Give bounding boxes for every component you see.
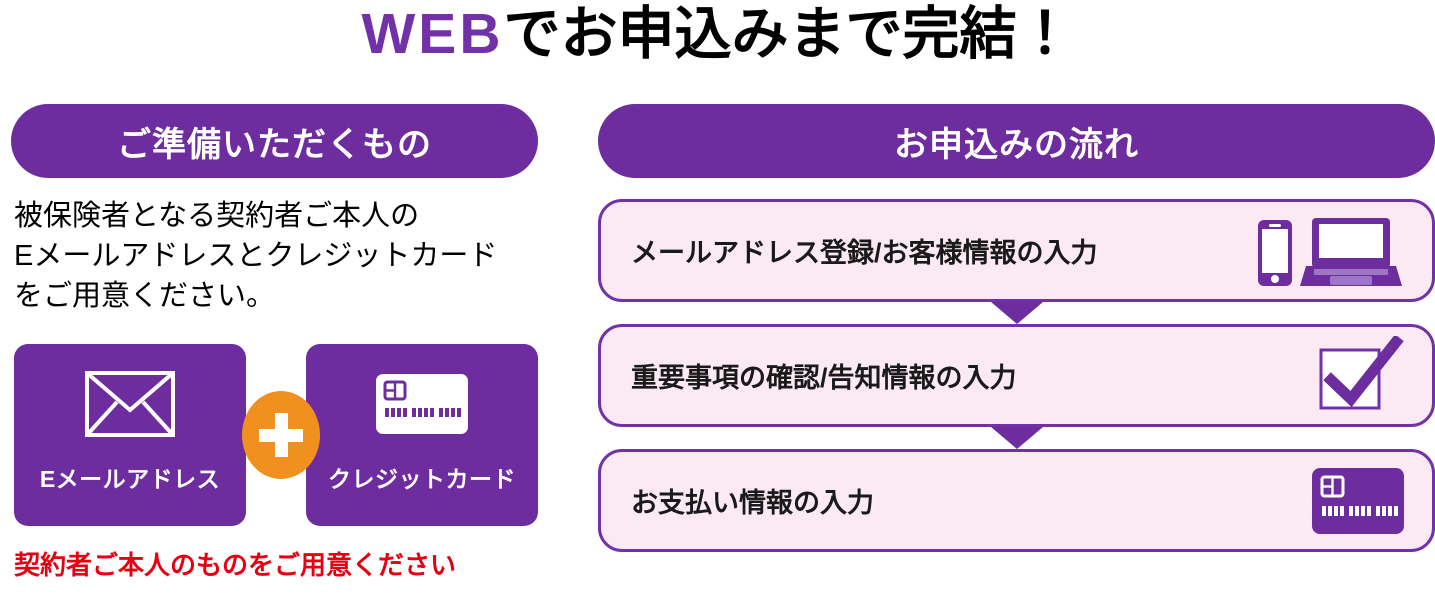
envelope-icon [84, 370, 176, 438]
envelope-icon-wrap [84, 344, 176, 464]
preparation-description-line-3: をご用意ください。 [14, 276, 540, 316]
preparation-description-line-1: 被保険者となる契約者ご本人の [14, 196, 540, 236]
application-flow-column: お申込みの流れ メールアドレス登録/お客様情報の入力 [598, 104, 1435, 603]
web-application-infographic: WEBでお申込みまで完結！ ご準備いただくもの 被保険者となる契約者ご本人の E… [0, 0, 1435, 603]
preparation-item-credit-card-label: クレジットカード [328, 464, 516, 494]
phone-laptop-icon-wrap [1256, 202, 1404, 299]
flow-heading-pill: お申込みの流れ [598, 104, 1435, 178]
preparation-item-credit-card: クレジットカード [306, 344, 538, 526]
preparation-description: 被保険者となる契約者ご本人の Eメールアドレスとクレジットカード をご用意くださ… [14, 196, 540, 316]
flow-step-3[interactable]: お支払い情報の入力 [598, 449, 1435, 552]
arrow-down-icon-1 [598, 302, 1435, 324]
checkbox-checked-icon-wrap [1318, 327, 1404, 424]
flow-step-2-label: 重要事項の確認/告知情報の入力 [631, 356, 1318, 395]
arrow-down-icon-triangle [991, 302, 1043, 324]
credit-card-icon [376, 374, 468, 434]
arrow-down-icon-triangle [991, 427, 1043, 449]
flow-heading-label: お申込みの流れ [894, 117, 1139, 166]
preparation-column: ご準備いただくもの 被保険者となる契約者ご本人の Eメールアドレスとクレジットカ… [0, 104, 540, 603]
plus-icon-bar-vertical [275, 413, 288, 457]
flow-step-1-label: メールアドレス登録/お客様情報の入力 [631, 231, 1256, 270]
preparation-heading-label: ご準備いただくもの [117, 117, 432, 166]
page-title: WEBでお申込みまで完結！ [0, 0, 1435, 70]
preparation-heading-pill: ご準備いただくもの [11, 104, 538, 178]
checkbox-checked-icon [1318, 336, 1404, 416]
page-title-highlight: WEB [362, 2, 504, 66]
preparation-items-row: Eメールアドレス [14, 344, 538, 526]
phone-laptop-icon [1256, 214, 1404, 288]
flow-step-1[interactable]: メールアドレス登録/お客様情報の入力 [598, 199, 1435, 302]
preparation-item-email-label: Eメールアドレス [40, 464, 220, 494]
flow-step-2[interactable]: 重要事項の確認/告知情報の入力 [598, 324, 1435, 427]
credit-card-icon [1312, 468, 1404, 534]
preparation-description-line-2: Eメールアドレスとクレジットカード [14, 236, 540, 276]
flow-step-3-label: お支払い情報の入力 [631, 481, 1312, 520]
credit-card-icon-wrap [376, 344, 468, 464]
plus-icon [242, 391, 320, 479]
page-title-rest: でお申込みまで完結！ [503, 2, 1073, 66]
flow-steps: メールアドレス登録/お客様情報の入力 [598, 199, 1435, 552]
preparation-item-email: Eメールアドレス [14, 344, 246, 526]
preparation-note: 契約者ご本人のものをご用意ください [14, 545, 540, 582]
arrow-down-icon-2 [598, 427, 1435, 449]
credit-card-icon-wrap [1312, 452, 1404, 549]
